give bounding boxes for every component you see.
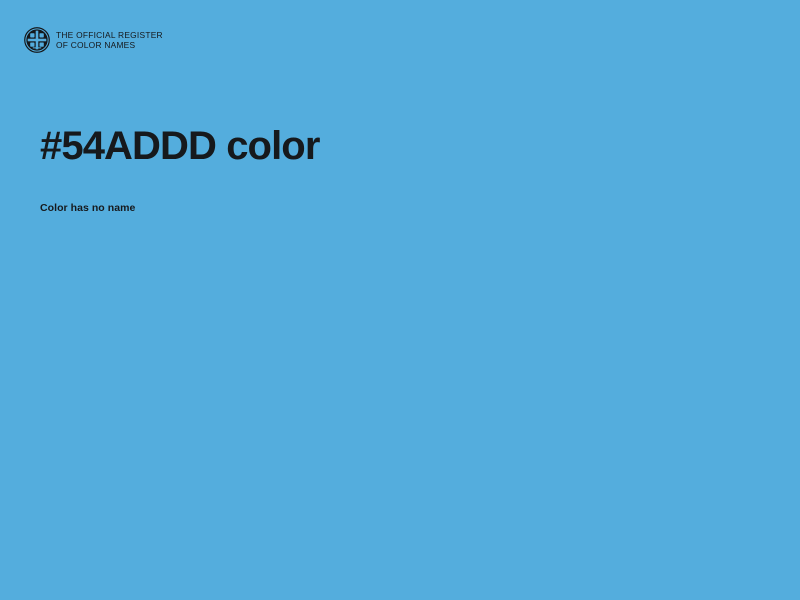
main-content: #54ADDD color Color has no name [40,120,760,215]
brand-lockup[interactable]: THE OFFICIAL REGISTER OF COLOR NAMES [24,27,163,53]
color-name-status: Color has no name [40,172,760,215]
official-register-seal-icon [24,27,50,53]
page-title: #54ADDD color [40,120,760,172]
brand-wordmark-line-2: OF COLOR NAMES [56,40,163,50]
brand-wordmark: THE OFFICIAL REGISTER OF COLOR NAMES [56,30,163,51]
brand-wordmark-line-1: THE OFFICIAL REGISTER [56,30,163,40]
